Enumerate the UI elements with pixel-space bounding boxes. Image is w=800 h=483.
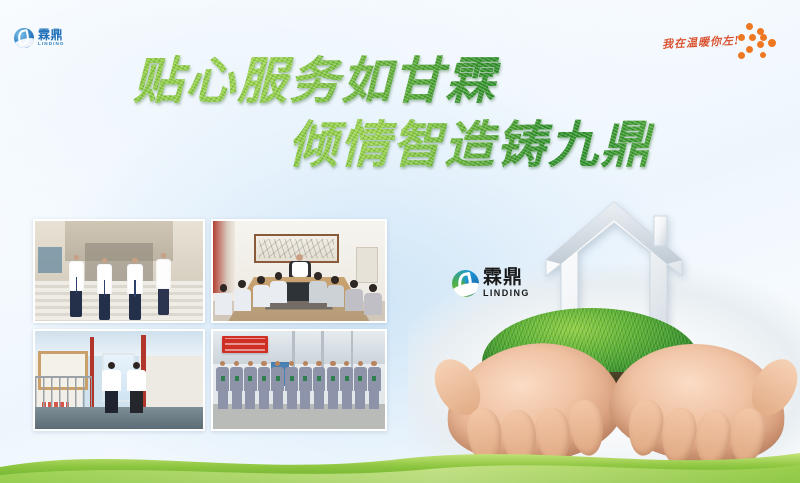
top-left-brand-logo[interactable]: 霖鼎 LINDING: [14, 28, 65, 48]
photo-office-corridor[interactable]: [33, 329, 205, 431]
headline-line-1: 贴心服务如甘霖: [133, 52, 700, 110]
dotted-arrow-right-icon: [732, 18, 782, 70]
linding-swoosh-icon: [452, 270, 479, 297]
photo-gallery: [33, 219, 390, 436]
photo-workshop-team[interactable]: [211, 329, 387, 431]
linding-swoosh-icon: [14, 28, 34, 48]
photo-conference-room[interactable]: [211, 219, 387, 323]
hero-brand-logo[interactable]: 霖鼎 LINDING: [452, 268, 554, 298]
photo-leaders-walking[interactable]: [33, 219, 205, 323]
footer-grass-band: [0, 437, 800, 483]
headline-group: 贴心服务如甘霖 倾情智造铸九鼎: [0, 52, 700, 174]
brand-name-cn: 霖鼎: [38, 29, 65, 42]
hero-logo-text: 霖鼎 LINDING: [483, 268, 530, 298]
brand-name-en: LINDING: [38, 42, 65, 47]
headline-line-2: 倾情智造铸九鼎: [288, 116, 700, 174]
top-left-logo-text: 霖鼎 LINDING: [38, 29, 65, 47]
hero-brand-name-cn: 霖鼎: [483, 268, 530, 287]
safety-slogan-banner: [222, 336, 268, 353]
hero-brand-name-en: LINDING: [483, 289, 530, 298]
poster-canvas: 霖鼎 LINDING 我在温暖你左! 贴心服务如甘霖 倾情智造铸九鼎: [0, 0, 800, 483]
handwritten-tagline: 我在温暖你左!: [662, 32, 741, 52]
